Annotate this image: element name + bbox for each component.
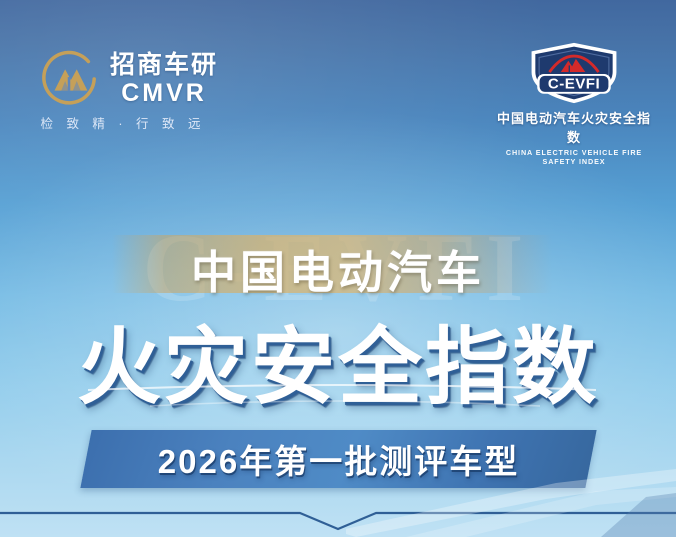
svg-text:C-EVFI: C-EVFI <box>548 76 600 93</box>
batch-banner-text: 2026年第一批测评车型 <box>86 430 591 488</box>
poster-canvas: 招商车研 CMVR 检 致 精 · 行 致 远 C-EVFI 中国电动汽车火灾安… <box>0 0 676 537</box>
cevfi-brand-lockup: C-EVFI 中国电动汽车火灾安全指数 CHINA ELECTRIC VEHIC… <box>494 40 654 166</box>
cmvr-name-stack: 招商车研 CMVR <box>110 53 218 106</box>
cmvr-name-en: CMVR <box>110 81 218 106</box>
cmvr-circle-mountain-logo-icon <box>38 48 100 110</box>
cmvr-tagline: 检 致 精 · 行 致 远 <box>38 113 208 132</box>
title-line-one: 中国电动汽车 <box>0 236 676 301</box>
cevfi-name-cn: 中国电动汽车火灾安全指数 <box>494 108 654 146</box>
cmvr-brand-lockup: 招商车研 CMVR <box>38 48 218 110</box>
cmvr-name-cn: 招商车研 <box>110 53 218 78</box>
cevfi-name-en: CHINA ELECTRIC VEHICLE FIRE SAFETY INDEX <box>494 148 654 166</box>
cevfi-shield-logo-icon: C-EVFI <box>494 40 654 106</box>
